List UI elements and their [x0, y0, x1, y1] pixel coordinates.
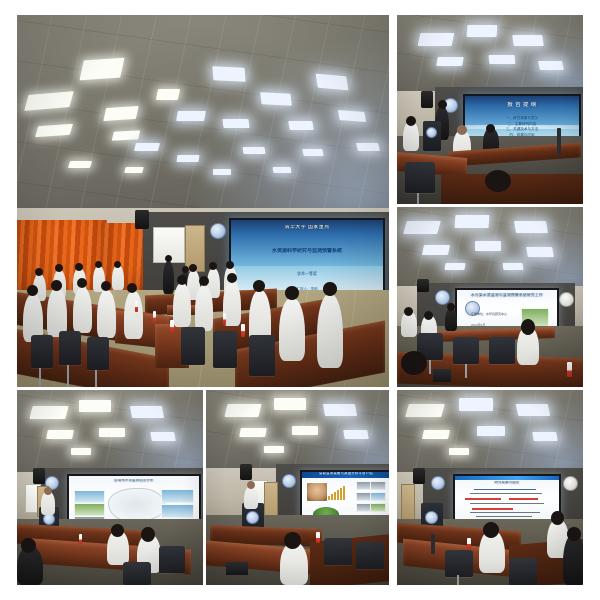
panel-main-lecture-hall-wide-shot[interactable]: 清华大学 国家重点 水资源科学研究与监测预警系统 学术一等奖 汇报人：李明 — [17, 15, 389, 387]
room-scene-mr: 水污染水质监测与监测预警系统研究工作 汇报单位：水环境研究中心 2023年9月 — [397, 207, 583, 387]
water-bottle — [79, 534, 82, 544]
slide-photo-thumbnail — [161, 504, 194, 518]
ceiling-light — [103, 106, 138, 121]
slide-title: 智能监测装备与数据分析平台介绍 — [307, 472, 384, 476]
chair[interactable] — [87, 337, 109, 370]
ceiling-light — [338, 110, 366, 122]
ceiling-light — [436, 57, 464, 66]
attendee-body — [97, 290, 116, 338]
slide-title: 区域水环境监测站点分布 — [77, 479, 191, 483]
wall-clock — [563, 476, 578, 491]
attendee-body — [317, 294, 343, 368]
water-bottle — [316, 532, 320, 543]
chair[interactable] — [59, 331, 81, 364]
ceiling-light — [422, 245, 450, 255]
photo-collage: 清华大学 国家重点 水资源科学研究与监测预警系统 学术一等奖 汇报人：李明 — [0, 0, 600, 600]
ceiling-light — [343, 430, 369, 439]
ceiling-light — [176, 111, 206, 121]
slide-highlight-line — [472, 508, 514, 510]
attendee-head — [75, 263, 83, 271]
attendee-head — [323, 282, 337, 296]
slide-device-thumbnail — [356, 481, 370, 491]
slide-subtitle: 学术一等奖 — [246, 271, 368, 277]
chair[interactable] — [405, 162, 435, 192]
ceiling-light — [243, 147, 266, 154]
front-desk — [441, 174, 583, 204]
attendee-head — [226, 261, 234, 269]
slide-text-line — [474, 489, 536, 490]
slide-text-line — [476, 516, 532, 517]
ceiling-light — [222, 119, 249, 128]
wall-speaker — [33, 468, 45, 484]
attendee-head — [111, 524, 124, 537]
attendee-head — [127, 283, 137, 293]
ceiling-light — [418, 33, 455, 46]
ceiling-light — [405, 404, 445, 417]
slide-body: 汇报单位：水环境研究中心 — [471, 312, 511, 317]
water-bottle — [170, 320, 174, 333]
chair[interactable] — [445, 550, 473, 577]
ceiling-light — [130, 406, 164, 418]
ceiling-light — [260, 92, 292, 106]
attendee-body — [195, 285, 213, 332]
presenter-head — [247, 481, 255, 489]
wall-clock — [559, 292, 574, 307]
water-bottle — [467, 538, 471, 549]
attendee-head — [27, 285, 38, 296]
slide-device-thumbnail — [370, 503, 386, 513]
slide-photo-thumbnail — [74, 503, 105, 516]
attendee-body — [279, 298, 305, 361]
ceiling-light — [79, 400, 111, 412]
podium-emblem — [425, 511, 438, 524]
ceiling-light — [455, 215, 490, 228]
wall-speaker — [417, 279, 429, 292]
attendee-head — [483, 522, 499, 538]
slide-title: 水污染水质监测与监测预警系统研究工作 — [463, 293, 551, 297]
slide-device-thumbnail — [356, 492, 370, 502]
attendee-head — [177, 275, 187, 285]
attendee-head — [253, 280, 265, 292]
water-bottle — [153, 311, 156, 323]
ceiling-light — [213, 169, 231, 175]
ceiling-light — [532, 432, 558, 441]
attendee-body — [73, 287, 92, 334]
attendee-body — [112, 265, 124, 290]
presenter-body — [41, 491, 55, 514]
ceiling-light — [177, 155, 200, 162]
ceiling-light — [356, 143, 380, 151]
chair-leg — [67, 365, 69, 387]
chair-leg — [95, 370, 97, 387]
ceiling-light — [449, 448, 469, 455]
ceiling-light — [512, 35, 544, 46]
slide-title: 清华大学 国家重点 — [240, 225, 374, 231]
room-scene-bm: 智能监测装备与数据分析平台介绍 — [206, 390, 389, 585]
ceiling-light — [475, 241, 501, 251]
panel-text-slide-back-of-room[interactable]: 研究成果与结论 主要创新点 — [397, 390, 583, 585]
ceiling-light — [264, 446, 284, 453]
chair[interactable] — [123, 562, 151, 585]
slide-portrait-photo — [306, 482, 327, 503]
water-bottle — [567, 362, 572, 377]
ceiling-light — [274, 398, 306, 410]
ceiling-light — [68, 161, 92, 168]
slide-title: 研究成果与结论 — [461, 481, 553, 485]
ceiling-light — [516, 404, 551, 416]
presenter-head — [44, 487, 52, 495]
presenter-head — [438, 100, 447, 109]
attendee-body — [47, 288, 67, 336]
water-bottle — [223, 313, 226, 325]
presenter-head — [165, 255, 172, 262]
ceiling-light — [150, 432, 176, 441]
wall-speaker — [413, 468, 425, 484]
slide-header-bar — [455, 476, 559, 481]
ceiling-light — [514, 221, 548, 233]
chair-leg — [457, 575, 459, 585]
ceiling-light — [239, 428, 267, 437]
attendee-head — [486, 124, 495, 133]
water-bottle — [241, 324, 245, 337]
attendee-head — [424, 311, 433, 320]
ceiling-light — [323, 404, 357, 416]
ceiling-light — [71, 448, 91, 455]
panel-speaker-at-podium-close-shot[interactable]: 报 告 提 纲 一、研究背景与意义 二、主要研究内容 三、关键技术与方法 四、成… — [397, 15, 583, 204]
university-emblem — [431, 476, 445, 490]
chair[interactable] — [489, 337, 515, 364]
microphone — [557, 128, 561, 154]
slide-photo-thumbnail — [74, 490, 105, 503]
foreground-attendee-head — [401, 351, 427, 375]
attendee-body — [563, 534, 583, 585]
slide-body: 水资源科学研究与监测预警系统 — [245, 248, 370, 256]
panel-map-slide-presentation[interactable]: 区域水环境监测站点分布 数据来源：国家水文监测中心 — [17, 390, 203, 585]
ceiling-light — [503, 263, 524, 270]
ceiling-light — [224, 404, 261, 417]
university-emblem — [435, 290, 450, 305]
slide-map-graphic — [108, 488, 165, 522]
chair[interactable] — [31, 335, 53, 368]
slide-text-line — [470, 503, 545, 504]
wall-speaker — [421, 91, 433, 108]
panel-title-slide-room-overview[interactable]: 水污染水质监测与监测预警系统研究工作 汇报单位：水环境研究中心 2023年9月 — [397, 207, 583, 387]
slide-device-thumbnail — [370, 481, 386, 491]
attendee-head — [567, 527, 581, 541]
slide-bar-chart — [328, 485, 345, 500]
chair-leg — [465, 364, 467, 378]
ceiling-light — [124, 167, 143, 173]
chair[interactable] — [509, 558, 537, 585]
slide-text-line — [470, 512, 541, 513]
chair-leg — [39, 368, 41, 387]
attendee-head — [551, 511, 564, 525]
chair[interactable] — [181, 327, 205, 364]
ceiling-light — [29, 406, 68, 419]
slide-title: 报 告 提 纲 — [472, 102, 572, 108]
ceiling-light — [156, 89, 180, 100]
ceiling-light — [467, 25, 498, 37]
attendee-head — [114, 261, 121, 268]
presenter-body — [244, 486, 258, 509]
chair[interactable] — [356, 542, 384, 569]
chair-leg — [417, 193, 419, 204]
attendee-head — [51, 280, 62, 291]
chair[interactable] — [453, 337, 479, 364]
attendee-head — [404, 307, 413, 316]
attendee-head — [141, 527, 155, 542]
ceiling-light — [112, 130, 140, 140]
chair[interactable] — [324, 538, 352, 565]
ceiling-light — [459, 398, 493, 411]
door — [401, 484, 415, 521]
ceiling-light — [99, 428, 125, 437]
attendee-head — [285, 286, 299, 300]
room-scene-br: 研究成果与结论 主要创新点 — [397, 390, 583, 585]
room-scene-bl: 区域水环境监测站点分布 数据来源：国家水文监测中心 — [17, 390, 203, 585]
slide-highlight-line — [509, 498, 538, 500]
slide-device-thumbnail — [370, 492, 386, 502]
wall-speaker — [135, 210, 149, 229]
presenter-body — [445, 308, 457, 331]
panel-portrait-and-chart-slide[interactable]: 智能监测装备与数据分析平台介绍 — [206, 390, 389, 585]
university-emblem — [282, 474, 296, 488]
ceiling-light — [477, 426, 505, 436]
attendee-body — [173, 283, 191, 328]
wall-speaker — [240, 464, 252, 480]
ceiling-light — [489, 55, 516, 64]
ceiling-light — [444, 263, 465, 270]
ceiling-light — [526, 247, 554, 257]
ceiling-light — [273, 167, 292, 173]
foreground-attendee-head — [485, 170, 511, 192]
ceiling-light — [422, 430, 450, 439]
slide-text-line — [470, 493, 543, 494]
slide-photo-thumbnail — [161, 489, 194, 503]
chair[interactable] — [159, 546, 185, 573]
ceiling-light — [316, 74, 349, 91]
attendee-head — [521, 319, 535, 335]
podium-emblem — [246, 511, 259, 524]
room-scene-tr: 报 告 提 纲 一、研究背景与意义 二、主要研究内容 三、关键技术与方法 四、成… — [397, 15, 583, 204]
chair[interactable] — [249, 335, 275, 376]
slide-device-thumbnail — [356, 503, 370, 513]
ceiling-light — [302, 149, 323, 156]
podium-emblem — [426, 127, 437, 138]
chair-leg — [429, 360, 431, 374]
chair[interactable] — [213, 331, 237, 368]
ceiling-light — [288, 121, 314, 130]
microphone — [431, 534, 435, 554]
ceiling-light — [212, 66, 245, 82]
attendee-head — [457, 125, 467, 135]
ceiling-light — [134, 143, 160, 151]
attendee-head — [35, 268, 43, 276]
slide-highlight-line — [465, 498, 500, 500]
attendee-body — [124, 291, 143, 339]
water-bottle — [135, 301, 138, 312]
presenter-body — [163, 261, 174, 294]
laptop[interactable] — [433, 369, 451, 382]
room-scene-hero: 清华大学 国家重点 水资源科学研究与监测预警系统 学术一等奖 汇报人：李明 — [17, 15, 389, 387]
door — [264, 482, 278, 519]
ceiling-light — [46, 430, 74, 439]
laptop[interactable] — [226, 562, 248, 576]
ceiling-light — [538, 61, 564, 70]
ceiling-light — [403, 221, 441, 234]
ceiling-light — [292, 426, 318, 435]
ceiling-light — [79, 58, 124, 81]
